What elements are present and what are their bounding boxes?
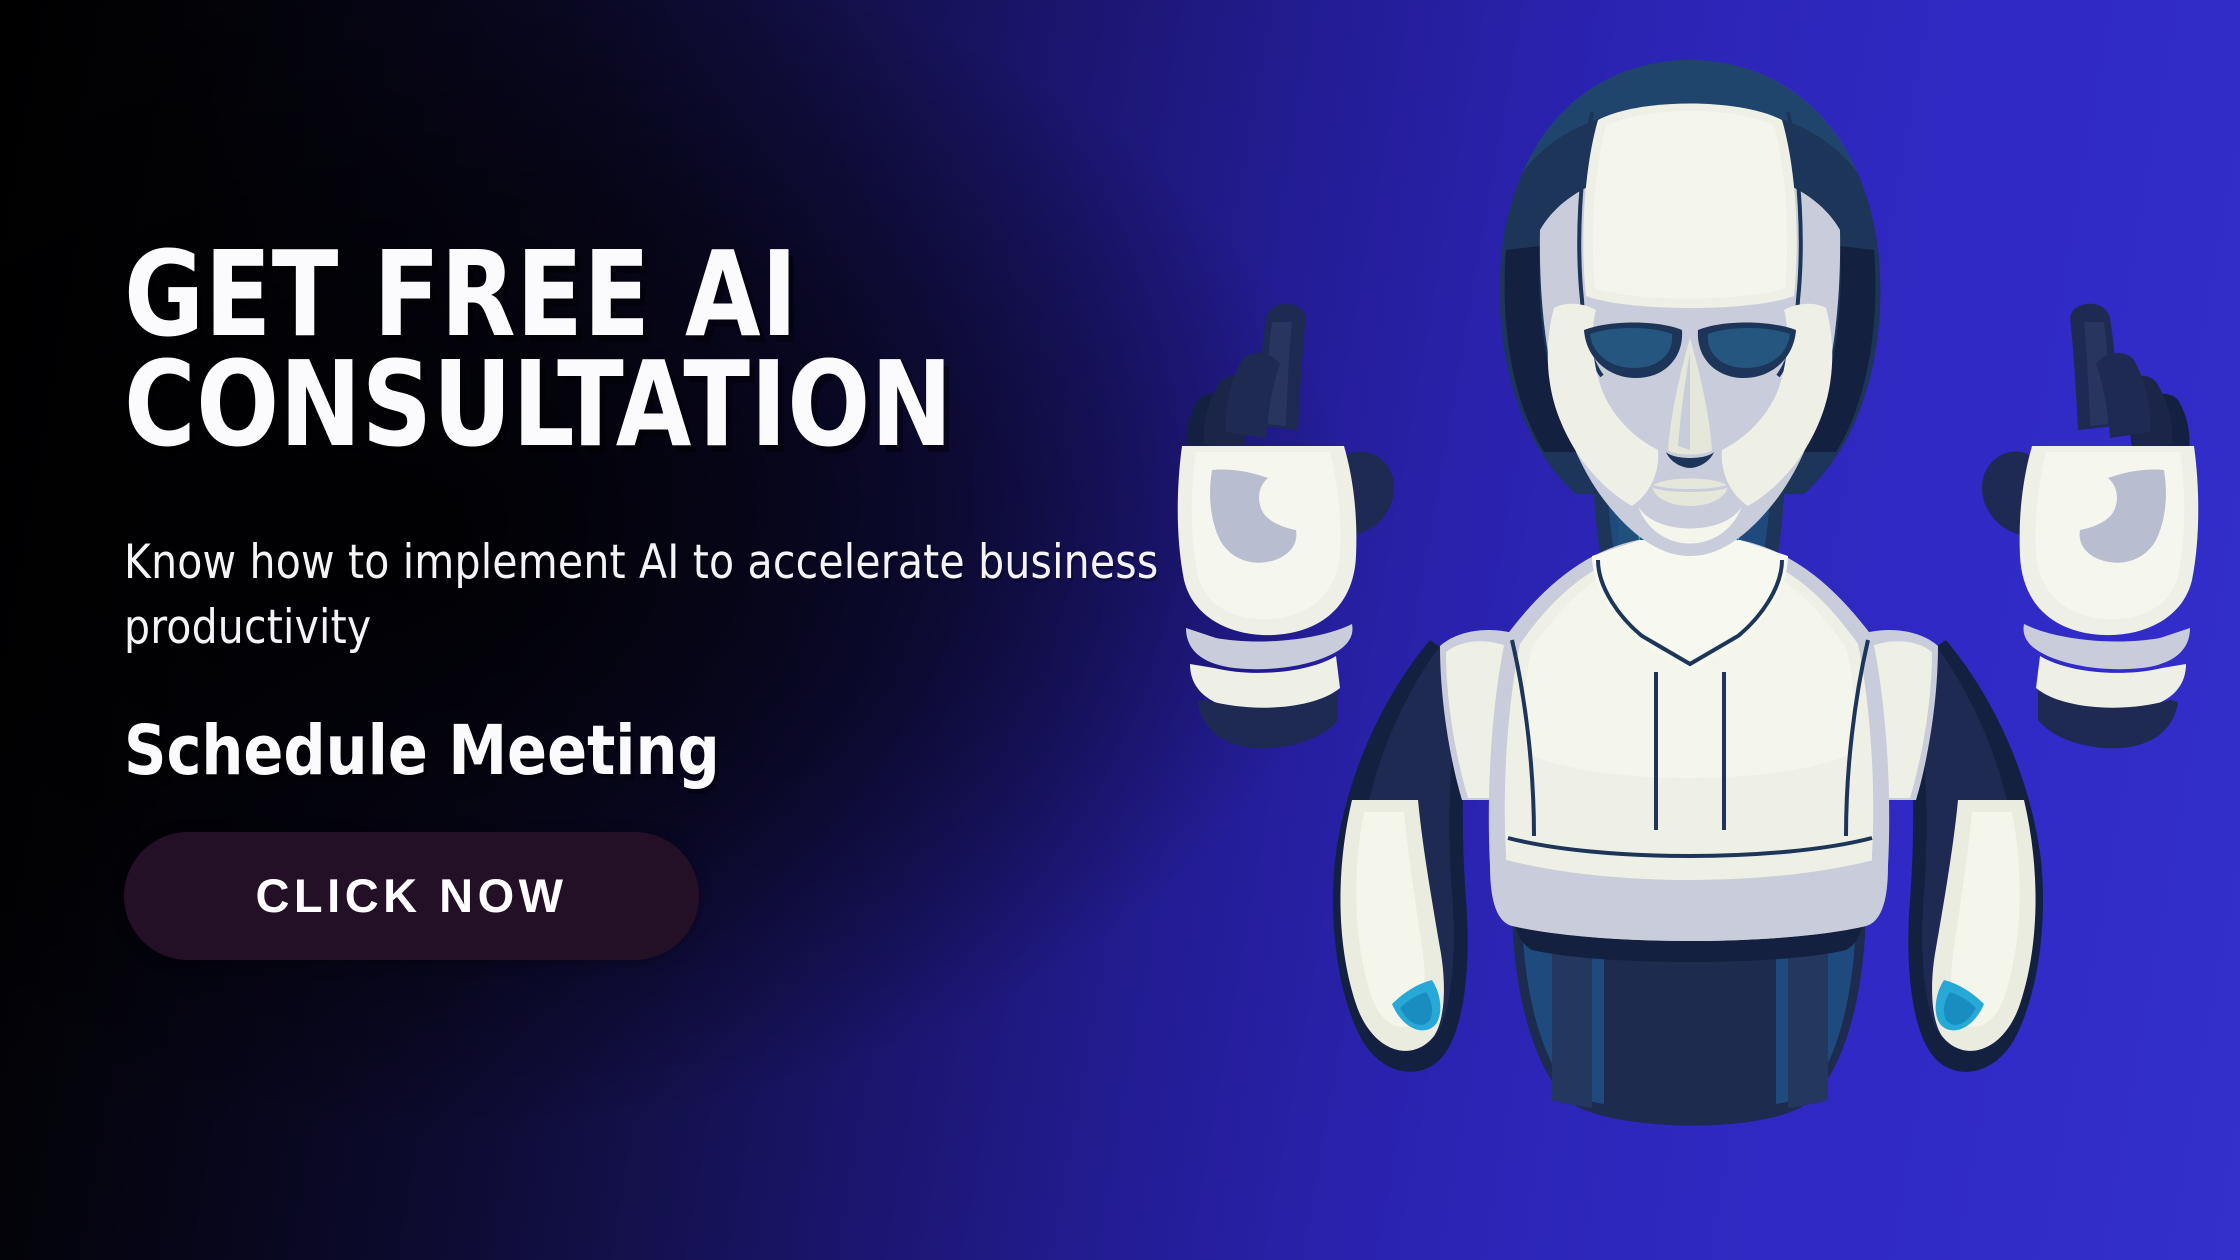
cta-container: CLICK NOW <box>124 832 1304 960</box>
robot-waist <box>1512 900 1866 1126</box>
robot-torso <box>1440 540 1938 941</box>
schedule-meeting-label: Schedule Meeting <box>124 715 1245 787</box>
robot-right-arm <box>1900 640 2043 1072</box>
click-now-button[interactable]: CLICK NOW <box>124 832 699 960</box>
promo-banner: GET FREE AI CONSULTATION Know how to imp… <box>0 0 2240 1260</box>
banner-content: GET FREE AI CONSULTATION Know how to imp… <box>124 240 1304 960</box>
robot-right-hand <box>1982 304 2198 748</box>
headline-line-2: CONSULTATION <box>124 350 1210 460</box>
headline-line-1: GET FREE AI <box>124 240 1210 350</box>
banner-subtitle: Know how to implement AI to accelerate b… <box>124 531 1181 661</box>
page-title: GET FREE AI CONSULTATION <box>124 240 1210 459</box>
robot-neck <box>1592 418 1786 610</box>
robot-left-arm <box>1333 640 1476 1072</box>
robot-head <box>1500 60 1881 556</box>
ai-robot-illustration <box>1140 0 2240 1260</box>
